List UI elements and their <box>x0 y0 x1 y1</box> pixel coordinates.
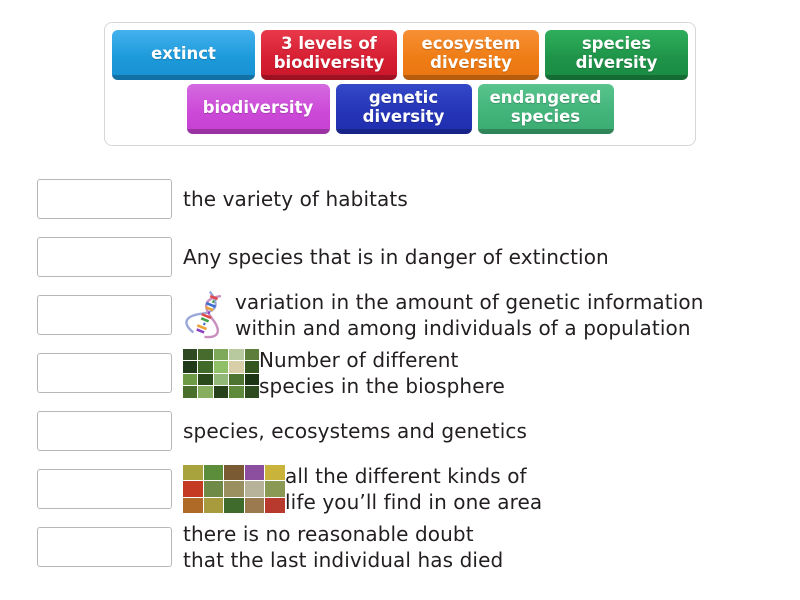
collage-cell <box>214 349 228 361</box>
collage-cell <box>224 481 244 497</box>
collage-cell <box>198 349 212 361</box>
drop-zone-2[interactable] <box>37 237 172 277</box>
collage-cell <box>245 465 265 481</box>
tile-bank-row-1: extinct 3 levels of biodiversity ecosyst… <box>105 30 695 80</box>
answer-text: all the different kinds of life you’ll f… <box>285 463 542 515</box>
tile-ecosystem-diversity[interactable]: ecosystem diversity <box>403 30 539 80</box>
tile-genetic-diversity[interactable]: genetic diversity <box>336 84 472 134</box>
answer-text: Number of different species in the biosp… <box>259 347 505 399</box>
collage-cell <box>183 465 203 481</box>
answer-body: there is no reasonable doubt that the la… <box>183 521 503 573</box>
tile-label: endangered species <box>490 88 602 126</box>
collage-cell <box>214 361 228 373</box>
answer-body: the variety of habitats <box>183 179 408 219</box>
collage-cell <box>229 374 243 386</box>
tile-label: extinct <box>151 44 216 63</box>
collage-cell <box>204 465 224 481</box>
answer-text: variation in the amount of genetic infor… <box>235 289 704 341</box>
drop-zone-5[interactable] <box>37 411 172 451</box>
answer-body: all the different kinds of life you’ll f… <box>183 463 542 515</box>
collage-cell <box>198 374 212 386</box>
drop-zone-7[interactable] <box>37 527 172 567</box>
answer-body: species, ecosystems and genetics <box>183 411 527 451</box>
biodiversity-collage-color-icon <box>183 465 285 514</box>
tile-species-diversity[interactable]: species diversity <box>545 30 688 80</box>
collage-cell <box>224 465 244 481</box>
tile-label: 3 levels of biodiversity <box>274 34 384 72</box>
dna-double-helix-icon <box>183 291 235 339</box>
collage-cell <box>229 349 243 361</box>
answer-list: the variety of habitats Any species that… <box>0 170 800 576</box>
answer-text: species, ecosystems and genetics <box>183 418 527 444</box>
tile-label: biodiversity <box>203 98 313 117</box>
collage-cell <box>245 386 259 398</box>
answer-row: Number of different species in the biosp… <box>0 344 800 402</box>
answer-text: there is no reasonable doubt that the la… <box>183 521 503 573</box>
collage-cell <box>204 481 224 497</box>
collage-cell <box>183 361 197 373</box>
answer-text: the variety of habitats <box>183 186 408 212</box>
answer-body: variation in the amount of genetic infor… <box>183 289 704 341</box>
collage-cell <box>229 361 243 373</box>
collage-cell <box>245 374 259 386</box>
collage-cell <box>229 386 243 398</box>
collage-cell <box>183 386 197 398</box>
collage-cell <box>245 361 259 373</box>
answer-row: the variety of habitats <box>0 170 800 228</box>
answer-row: there is no reasonable doubt that the la… <box>0 518 800 576</box>
answer-body: Any species that is in danger of extinct… <box>183 237 609 277</box>
collage-cell <box>198 361 212 373</box>
tile-extinct[interactable]: extinct <box>112 30 255 80</box>
tile-endangered-species[interactable]: endangered species <box>478 84 614 134</box>
collage-cell <box>245 349 259 361</box>
drop-zone-6[interactable] <box>37 469 172 509</box>
answer-row: species, ecosystems and genetics <box>0 402 800 460</box>
tile-biodiversity[interactable]: biodiversity <box>187 84 330 134</box>
answer-body: Number of different species in the biosp… <box>183 347 505 399</box>
tile-3-levels-of-biodiversity[interactable]: 3 levels of biodiversity <box>261 30 397 80</box>
collage-cell <box>204 498 224 514</box>
collage-cell <box>183 374 197 386</box>
collage-cell <box>183 349 197 361</box>
tile-label: ecosystem diversity <box>422 34 521 72</box>
species-collage-green-icon <box>183 349 259 398</box>
drop-zone-1[interactable] <box>37 179 172 219</box>
collage-cell <box>198 386 212 398</box>
collage-cell <box>214 386 228 398</box>
collage-cell <box>265 498 285 514</box>
tile-bank-row-2: biodiversity genetic diversity endangere… <box>105 84 695 134</box>
collage-cell <box>214 374 228 386</box>
collage-cell <box>245 498 265 514</box>
answer-row: variation in the amount of genetic infor… <box>0 286 800 344</box>
collage-cell <box>183 481 203 497</box>
collage-cell <box>245 481 265 497</box>
collage-cell <box>183 498 203 514</box>
tile-label: genetic diversity <box>363 88 445 126</box>
answer-text: Any species that is in danger of extinct… <box>183 244 609 270</box>
collage-cell <box>265 465 285 481</box>
tile-label: species diversity <box>576 34 658 72</box>
answer-row: all the different kinds of life you’ll f… <box>0 460 800 518</box>
drop-zone-3[interactable] <box>37 295 172 335</box>
collage-cell <box>224 498 244 514</box>
drop-zone-4[interactable] <box>37 353 172 393</box>
answer-row: Any species that is in danger of extinct… <box>0 228 800 286</box>
tile-bank: extinct 3 levels of biodiversity ecosyst… <box>104 22 696 146</box>
collage-cell <box>265 481 285 497</box>
